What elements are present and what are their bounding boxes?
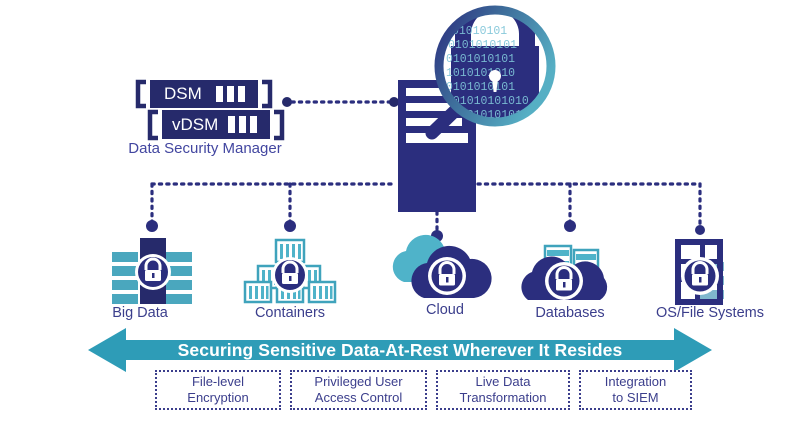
svg-text:0101010101: 0101010101 — [446, 81, 515, 94]
containers-icon — [245, 240, 335, 302]
big-data-keyhole — [152, 273, 155, 278]
bus-dot-bigdata — [146, 220, 158, 232]
bus-dot-osfile — [695, 225, 705, 235]
dsm-caption-label: Data Security Manager — [110, 141, 300, 158]
databases-icon — [521, 246, 607, 300]
feature-line-2: to SIEM — [605, 390, 666, 406]
feature-box-privileged-user-access-control: Privileged User Access Control — [290, 370, 427, 410]
bus-dot-databases — [564, 220, 576, 232]
dsm-right-bracket — [262, 82, 270, 106]
feature-line-1: File-level — [187, 374, 248, 390]
node-label-cloud: Cloud — [400, 302, 490, 318]
node-label-databases: Databases — [520, 305, 620, 321]
feature-line-2: Transformation — [460, 390, 547, 406]
cloud-keyhole — [446, 277, 449, 283]
connector-dsm-to-core — [282, 97, 399, 107]
svg-text:0101010101: 0101010101 — [446, 53, 515, 66]
dsm-box-label: DSM — [150, 80, 258, 108]
feature-box-integration-to-siem: Integration to SIEM — [579, 370, 692, 410]
databases-keyhole — [563, 282, 566, 288]
feature-line-1: Privileged User — [314, 374, 402, 390]
vdsm-right-bracket — [274, 112, 282, 138]
os-file-systems-icon — [678, 242, 724, 302]
svg-text:1010101010: 1010101010 — [446, 67, 515, 80]
feature-box-live-data-transformation: Live Data Transformation — [436, 370, 570, 410]
big-data-icon — [112, 238, 192, 304]
node-label-big-data: Big Data — [95, 305, 185, 321]
dsm-left-bracket — [138, 82, 146, 106]
node-label-containers: Containers — [235, 305, 345, 321]
vdsm-box-label: vDSM — [162, 110, 270, 139]
bus-dot-containers — [284, 220, 296, 232]
containers-keyhole — [289, 276, 292, 281]
feature-line-1: Integration — [605, 374, 666, 390]
svg-text:0101010101: 0101010101 — [448, 39, 517, 52]
securing-banner-arrow — [88, 328, 712, 372]
osfile-keyhole — [699, 277, 702, 283]
magnifier-lock-icon: 01010101 0101010101 0101010101 101010101… — [432, 0, 551, 133]
feature-line-2: Access Control — [314, 390, 402, 406]
feature-line-1: Live Data — [460, 374, 547, 390]
cloud-icon — [393, 235, 492, 298]
feature-line-2: Encryption — [187, 390, 248, 406]
connector-dot-right — [389, 97, 399, 107]
node-label-os-file-systems: OS/File Systems — [645, 305, 775, 321]
feature-box-file-level-encryption: File-level Encryption — [155, 370, 281, 410]
vdsm-left-bracket — [150, 112, 158, 138]
